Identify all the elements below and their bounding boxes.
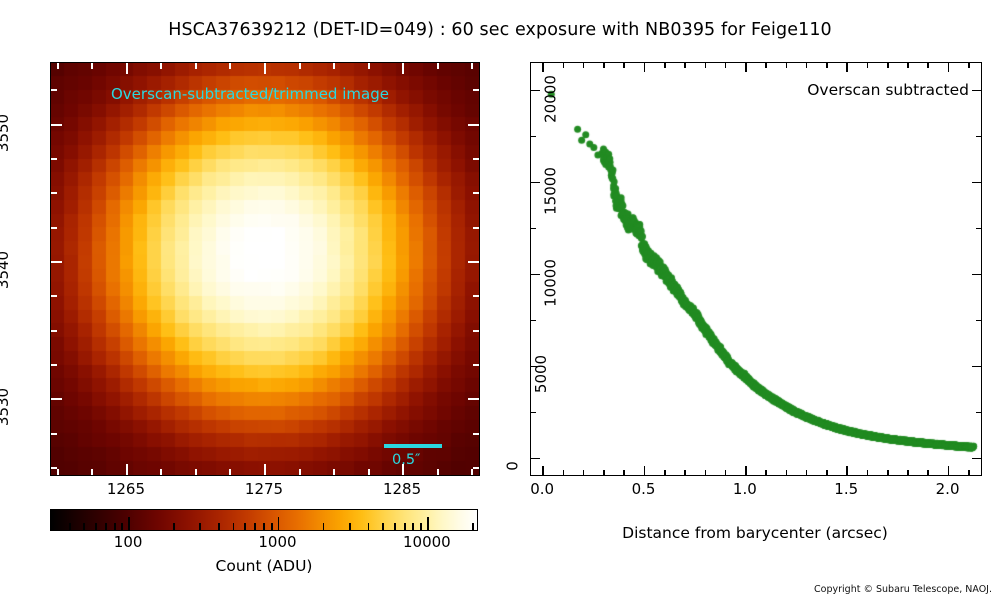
colorbar-tick — [412, 523, 414, 530]
scatter-x-tick — [948, 466, 950, 475]
colorbar-tick — [114, 523, 116, 530]
scatter-y-tick — [972, 366, 981, 368]
image-x-tick — [368, 469, 370, 475]
scatter-x-tick — [826, 63, 828, 68]
scatter-y-tick — [531, 458, 540, 460]
image-x-tick — [402, 63, 404, 74]
scatter-y-tick-label: 0 — [504, 462, 522, 472]
colorbar — [50, 509, 478, 531]
colorbar-tick — [128, 517, 130, 530]
scatter-annotation: Overscan subtracted — [807, 81, 969, 99]
scatter-x-tick-label: 1.0 — [733, 480, 757, 498]
colorbar-tick — [472, 523, 474, 530]
scatter-x-tick — [725, 470, 727, 475]
colorbar-tick — [263, 523, 265, 530]
image-x-tick — [57, 63, 59, 69]
colorbar-tick — [199, 523, 201, 530]
scatter-x-tick — [603, 470, 605, 475]
colorbar-tick — [121, 523, 123, 530]
scatter-x-tick — [786, 63, 788, 68]
image-y-tick-label: 3540 — [0, 251, 12, 289]
colorbar-tick — [50, 523, 52, 530]
scatter-x-tick-label: 1.5 — [834, 480, 858, 498]
image-x-tick — [195, 63, 197, 69]
image-y-tick — [468, 398, 479, 400]
image-x-tick — [195, 469, 197, 475]
scatter-x-tick — [684, 63, 686, 68]
scatter-x-tick — [887, 63, 889, 68]
scatter-x-tick — [765, 63, 767, 68]
colorbar-tick — [323, 523, 325, 530]
radial-profile-canvas — [531, 63, 981, 475]
colorbar-tick — [382, 523, 384, 530]
image-y-tick — [51, 467, 57, 469]
scatter-x-tick — [705, 63, 707, 68]
scatter-x-tick — [927, 470, 929, 475]
image-y-tick — [51, 227, 57, 229]
scatter-x-tick — [664, 470, 666, 475]
scatter-x-tick — [563, 63, 565, 68]
scatter-x-tick — [583, 470, 585, 475]
scatter-x-tick — [542, 466, 544, 475]
image-y-tick — [51, 330, 57, 332]
image-x-tick — [402, 464, 404, 475]
scatter-y-tick-label: 10000 — [542, 259, 560, 307]
scatter-x-tick — [563, 470, 565, 475]
scatter-x-tick — [846, 466, 848, 475]
scatter-panel: Overscan subtracted — [530, 62, 982, 476]
colorbar-tick — [254, 523, 256, 530]
image-x-tick — [229, 63, 231, 69]
image-annotation: Overscan-subtracted/trimmed image — [111, 85, 389, 103]
image-x-tick — [264, 464, 266, 475]
scatter-x-tick — [907, 63, 909, 68]
scatter-y-tick-label: 15000 — [542, 167, 560, 215]
scatter-y-tick — [531, 136, 536, 138]
image-panel: Overscan-subtracted/trimmed image 0.5″ — [50, 62, 480, 476]
image-x-tick — [57, 469, 59, 475]
image-y-tick — [473, 89, 479, 91]
scatter-y-tick — [531, 274, 540, 276]
colorbar-tick — [271, 523, 273, 530]
scatter-x-tick — [583, 63, 585, 68]
image-x-tick — [160, 63, 162, 69]
image-x-tick — [126, 464, 128, 475]
image-y-tick — [473, 158, 479, 160]
image-y-tick — [473, 433, 479, 435]
image-y-tick — [473, 330, 479, 332]
image-y-tick — [473, 295, 479, 297]
colorbar-tick — [95, 523, 97, 530]
scatter-y-tick — [976, 320, 981, 322]
image-x-tick — [471, 469, 473, 475]
scatter-y-tick — [972, 458, 981, 460]
scatter-x-tick — [887, 470, 889, 475]
image-x-tick — [368, 63, 370, 69]
scatter-x-tick — [705, 470, 707, 475]
scatter-x-tick — [907, 470, 909, 475]
colorbar-tick-label: 100 — [114, 533, 143, 551]
scatter-x-tick — [927, 63, 929, 68]
colorbar-tick-label: 10000 — [403, 533, 451, 551]
colorbar-tick — [368, 523, 370, 530]
scatter-x-tick — [664, 63, 666, 68]
scatter-x-tick — [867, 63, 869, 68]
colorbar-tick — [420, 523, 422, 530]
scatter-x-tick — [725, 63, 727, 68]
image-x-tick — [299, 469, 301, 475]
image-y-tick — [51, 364, 57, 366]
image-x-tick — [299, 63, 301, 69]
colorbar-tick — [173, 523, 175, 530]
colorbar-tick — [427, 517, 429, 530]
image-y-tick — [51, 433, 57, 435]
colorbar-tick — [233, 523, 235, 530]
scatter-x-tick — [542, 63, 544, 72]
colorbar-tick — [105, 523, 107, 530]
scatter-y-tick-label: 20000 — [542, 75, 560, 123]
scatter-x-tick — [968, 63, 970, 68]
image-x-tick — [160, 469, 162, 475]
scatter-y-tick — [972, 182, 981, 184]
image-y-tick — [473, 227, 479, 229]
colorbar-tick — [394, 523, 396, 530]
image-x-tick — [229, 469, 231, 475]
image-y-tick — [51, 89, 57, 91]
image-x-tick — [333, 63, 335, 69]
image-x-tick — [126, 63, 128, 74]
scatter-y-tick — [972, 274, 981, 276]
colorbar-tick-label: 1000 — [258, 533, 296, 551]
scatter-y-tick — [976, 136, 981, 138]
colorbar-tick — [218, 523, 220, 530]
scatter-x-tick — [623, 470, 625, 475]
figure-root: HSCA37639212 (DET-ID=049) : 60 sec expos… — [0, 0, 1000, 600]
scatter-y-tick — [531, 320, 536, 322]
colorbar-title: Count (ADU) — [50, 557, 478, 575]
scatter-x-tick — [806, 470, 808, 475]
scatter-x-tick — [644, 63, 646, 72]
scatter-x-tick — [745, 466, 747, 475]
scatter-x-tick — [603, 63, 605, 68]
image-x-tick-label: 1275 — [245, 480, 283, 498]
scatter-x-tick — [623, 63, 625, 68]
scatter-x-tick — [745, 63, 747, 72]
scatter-x-tick-label: 2.0 — [936, 480, 960, 498]
image-x-tick — [471, 63, 473, 69]
image-x-tick — [333, 469, 335, 475]
scatter-x-tick — [765, 470, 767, 475]
scatter-x-tick-label: 0.5 — [632, 480, 656, 498]
scatter-x-tick — [806, 63, 808, 68]
psf-image-canvas — [51, 63, 479, 475]
scatter-y-tick — [972, 90, 981, 92]
image-y-tick — [51, 295, 57, 297]
colorbar-tick — [404, 523, 406, 530]
image-y-tick-label: 3530 — [0, 388, 12, 426]
scatter-y-tick — [531, 412, 536, 414]
colorbar-tick — [349, 523, 351, 530]
colorbar-tick — [83, 523, 85, 530]
scatter-x-tick — [867, 470, 869, 475]
scalebar-line — [384, 444, 442, 448]
scatter-x-tick-label: 0.0 — [530, 480, 554, 498]
image-x-tick-label: 1265 — [107, 480, 145, 498]
colorbar-tick — [278, 517, 280, 530]
scatter-x-tick — [968, 470, 970, 475]
scatter-y-tick — [531, 90, 540, 92]
image-y-tick — [51, 398, 62, 400]
image-y-tick — [51, 158, 57, 160]
scatter-y-tick — [531, 228, 536, 230]
scalebar-label: 0.5″ — [392, 452, 420, 468]
scatter-y-tick — [976, 412, 981, 414]
image-x-tick — [264, 63, 266, 74]
image-y-tick — [468, 124, 479, 126]
scatter-x-tick — [684, 470, 686, 475]
scatter-y-tick — [976, 228, 981, 230]
image-y-tick — [473, 467, 479, 469]
image-x-tick — [91, 63, 93, 69]
scatter-x-axis-title: Distance from barycenter (arcsec) — [530, 524, 980, 542]
image-x-tick-label: 1285 — [383, 480, 421, 498]
scatter-y-tick-label: 5000 — [532, 355, 550, 393]
image-y-tick-label: 3550 — [0, 114, 12, 152]
image-y-tick — [51, 192, 57, 194]
image-x-tick — [437, 63, 439, 69]
colorbar-tick — [69, 523, 71, 530]
image-x-tick — [91, 469, 93, 475]
copyright-notice: Copyright © Subaru Telescope, NAOJ. — [814, 584, 992, 595]
scatter-x-tick — [786, 470, 788, 475]
colorbar-tick — [244, 523, 246, 530]
image-y-tick — [51, 124, 62, 126]
scatter-x-tick — [846, 63, 848, 72]
image-y-tick — [51, 261, 62, 263]
scatter-x-tick — [948, 63, 950, 72]
scatter-x-tick — [826, 470, 828, 475]
image-y-tick — [473, 192, 479, 194]
scatter-y-tick — [531, 182, 540, 184]
image-y-tick — [468, 261, 479, 263]
image-x-tick — [437, 469, 439, 475]
image-y-tick — [473, 364, 479, 366]
figure-title: HSCA37639212 (DET-ID=049) : 60 sec expos… — [0, 20, 1000, 40]
scatter-x-tick — [644, 466, 646, 475]
